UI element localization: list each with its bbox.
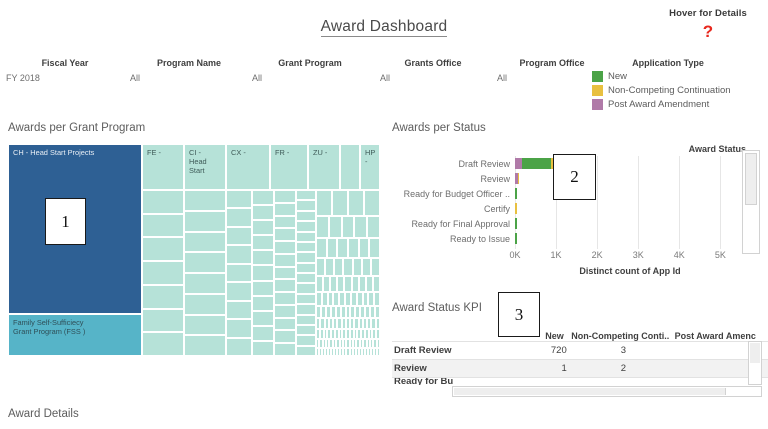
chart-row-label: Certify — [392, 204, 515, 214]
chart-row-label: Draft Review — [392, 159, 515, 169]
filter-label: Grant Program — [240, 58, 380, 68]
treemap-tile-small[interactable] — [274, 330, 296, 343]
treemap-tile-small[interactable] — [348, 190, 364, 216]
treemap-tile-small[interactable] — [316, 258, 325, 276]
kpi-cell-status: Review — [392, 363, 505, 374]
legend-item[interactable]: Non-Competing Continuation — [592, 85, 768, 96]
treemap-tile-small[interactable] — [342, 216, 355, 238]
filter-label: Grants Office — [368, 58, 498, 68]
award-status-kpi-table[interactable]: New Non-Competing Conti.. Post Award Ame… — [392, 325, 768, 397]
treemap-tile-label: ZU - — [309, 145, 339, 157]
treemap-tile-small[interactable] — [142, 285, 184, 309]
treemap-tile-small[interactable] — [184, 294, 226, 315]
treemap-tile-small[interactable] — [296, 221, 316, 231]
callout-marker-1: 1 — [45, 198, 86, 245]
legend-color-swatch — [592, 85, 603, 96]
treemap-tile-small[interactable] — [274, 254, 296, 267]
treemap-tile-small[interactable] — [323, 276, 330, 292]
treemap-tile-small[interactable] — [296, 315, 316, 325]
treemap-tile-small[interactable] — [325, 258, 334, 276]
treemap-tile-small[interactable] — [226, 301, 252, 319]
treemap-tile-small[interactable] — [142, 214, 184, 238]
treemap-tile-small[interactable] — [252, 265, 274, 280]
scrollbar-thumb[interactable] — [750, 343, 760, 363]
treemap-tile-small[interactable] — [316, 238, 327, 258]
treemap-tile-small[interactable] — [226, 338, 252, 356]
treemap-tile-small[interactable] — [274, 216, 296, 229]
chart-row[interactable]: Ready for Final Approval — [392, 216, 768, 231]
treemap-tile-small[interactable] — [142, 261, 184, 285]
treemap-tile-small[interactable] — [374, 292, 380, 306]
kpi-cell-new: 1 — [505, 363, 573, 374]
legend-color-swatch — [592, 99, 603, 110]
treemap-tile-small[interactable] — [375, 306, 380, 318]
treemap-tile-small[interactable] — [252, 205, 274, 220]
treemap-tile-small[interactable] — [274, 292, 296, 305]
kpi-cell-status: Ready for Bu — [392, 377, 512, 385]
chart-bar-segment[interactable] — [518, 173, 520, 184]
treemap-tile-small[interactable] — [142, 237, 184, 261]
treemap-tile-small[interactable] — [142, 332, 184, 356]
chart-row[interactable]: Certify — [392, 201, 768, 216]
legend-item[interactable]: New — [592, 71, 768, 82]
status-chart-caption: Awards per Status — [392, 122, 486, 134]
chart-row-label: Ready for Final Approval — [392, 219, 515, 229]
treemap-tile-small[interactable] — [373, 276, 380, 292]
treemap-tile-small[interactable] — [353, 258, 362, 276]
treemap-tile-small[interactable] — [296, 273, 316, 283]
chart-bar-track — [515, 186, 745, 201]
treemap-tile-small[interactable] — [376, 318, 380, 329]
treemap-tile-small[interactable] — [226, 264, 252, 282]
dashboard-root: Hover for Details ? Award Dashboard Fisc… — [0, 0, 768, 429]
treemap-tile-small[interactable] — [226, 208, 252, 226]
treemap-tile-small[interactable] — [296, 325, 316, 335]
filter-program-name[interactable]: Program Name All — [124, 58, 254, 83]
kpi-cell-new: 720 — [505, 345, 573, 356]
treemap-tile-small[interactable] — [337, 276, 344, 292]
chart-bar-track — [515, 216, 745, 231]
chart-bar-segment[interactable] — [515, 233, 517, 244]
chart-bar[interactable] — [515, 158, 553, 169]
chart-bar-track — [515, 231, 745, 246]
treemap-tile-small[interactable] — [296, 304, 316, 314]
kpi-cell-non-competing: 2 — [573, 363, 674, 374]
legend-item-label: Post Award Amendment — [608, 99, 709, 110]
chart-bar[interactable] — [515, 173, 519, 184]
treemap-tile-small[interactable] — [274, 343, 296, 356]
x-tick-label: 3K — [633, 250, 644, 260]
treemap-tile-small[interactable] — [274, 190, 296, 203]
table-row[interactable]: Draft Review7203 — [392, 341, 768, 359]
legend-item-label: New — [608, 71, 627, 82]
chart-bar[interactable] — [515, 203, 517, 214]
treemap-tile-small[interactable] — [367, 216, 380, 238]
filter-value[interactable]: FY 2018 — [0, 73, 130, 83]
treemap-tile-small[interactable] — [344, 276, 351, 292]
treemap-tile-small[interactable] — [334, 258, 343, 276]
x-axis-label: Distinct count of App Id — [515, 266, 745, 276]
x-axis-ticks: 0K1K2K3K4K5K — [515, 250, 755, 264]
treemap-tile-small[interactable] — [362, 258, 371, 276]
chart-bar-segment[interactable] — [515, 203, 517, 214]
callout-marker-3: 3 — [498, 292, 540, 337]
chart-bar-track — [515, 201, 745, 216]
treemap-tile-small[interactable] — [359, 276, 366, 292]
legend-list: NewNon-Competing ContinuationPost Award … — [592, 71, 768, 110]
table-row-clipped[interactable]: Ready for Bu — [392, 377, 768, 385]
treemap-tile-small[interactable] — [296, 283, 316, 293]
treemap-tile-label: FR - — [271, 145, 307, 157]
kpi-caption: Award Status KPI — [392, 302, 482, 314]
chart-row[interactable]: Ready to Issue — [392, 231, 768, 246]
kpi-col-ncc: Non-Competing Conti.. — [570, 331, 671, 341]
treemap-tile-small[interactable] — [252, 190, 274, 205]
filter-fiscal-year[interactable]: Fiscal Year FY 2018 — [0, 58, 130, 83]
chart-row-label: Review — [392, 174, 515, 184]
treemap-tile-hp[interactable]: HP - — [360, 144, 380, 190]
kpi-table-body: Draft Review7203Review12Ready for Bu — [392, 341, 768, 385]
treemap-tile-small[interactable] — [348, 238, 359, 258]
treemap-tile-small[interactable] — [252, 235, 274, 250]
treemap-tile-small[interactable] — [352, 276, 359, 292]
kpi-horizontal-scrollbar[interactable] — [452, 386, 762, 397]
treemap-tile-small[interactable] — [296, 346, 316, 356]
treemap-tile-small[interactable] — [296, 263, 316, 273]
treemap-tile-small[interactable] — [184, 232, 226, 253]
treemap-tile-small[interactable] — [371, 258, 380, 276]
chart-bar-segment[interactable] — [515, 188, 517, 199]
treemap-tile-small[interactable] — [343, 258, 352, 276]
legend-color-swatch — [592, 71, 603, 82]
treemap-tile-small[interactable] — [274, 203, 296, 216]
treemap-tile-small[interactable] — [316, 276, 323, 292]
legend-item[interactable]: Post Award Amendment — [592, 99, 768, 110]
legend-item-label: Non-Competing Continuation — [608, 85, 731, 96]
chart-bar[interactable] — [515, 188, 517, 199]
filter-grant-program[interactable]: Grant Program All — [240, 58, 380, 83]
treemap-tile-blank[interactable] — [340, 144, 360, 190]
treemap-tile-small[interactable] — [337, 238, 348, 258]
filter-label: Fiscal Year — [0, 58, 130, 68]
kpi-col-paa: Post Award Amenc — [671, 331, 768, 341]
filter-value[interactable]: All — [240, 73, 380, 83]
award-details-caption: Award Details — [8, 408, 79, 420]
treemap-tile-small[interactable] — [296, 252, 316, 262]
treemap-tile-small[interactable] — [376, 329, 380, 339]
treemap-tile-label: Family Self-Sufficiecy Grant Program (FS… — [9, 315, 141, 336]
awards-per-grant-program-treemap[interactable]: CH - Head Start ProjectsFamily Self-Suff… — [8, 144, 380, 356]
treemap-tile-small[interactable] — [377, 339, 380, 348]
chart-row-label: Ready for Budget Officer .. — [392, 189, 515, 199]
treemap-tile-small[interactable] — [226, 319, 252, 337]
filter-grants-office[interactable]: Grants Office All — [368, 58, 498, 83]
treemap-tile-small[interactable] — [296, 190, 316, 200]
treemap-tile-ci-head-start[interactable]: CI - Head Start — [184, 144, 226, 190]
treemap-tile-zu[interactable]: ZU - — [308, 144, 340, 190]
treemap-tile-fe[interactable]: FE - — [142, 144, 184, 190]
treemap-tile-small[interactable] — [296, 232, 316, 242]
treemap-tile-small[interactable] — [296, 211, 316, 221]
table-row[interactable]: Review12 — [392, 359, 768, 377]
chart-bar-segment[interactable] — [522, 158, 552, 169]
treemap-tile-small[interactable] — [142, 190, 184, 214]
treemap-tile-small[interactable] — [296, 294, 316, 304]
treemap-tile-small[interactable] — [296, 335, 316, 345]
x-tick-label: 0K — [509, 250, 520, 260]
treemap-tile-small[interactable] — [184, 252, 226, 273]
treemap-tile-label: CI - Head Start — [185, 145, 225, 175]
treemap-tile-small[interactable] — [377, 348, 380, 356]
award-status-axis-title: Award Status — [580, 144, 746, 154]
treemap-tile-small[interactable] — [226, 190, 252, 208]
treemap-tile-label: CH - Head Start Projects — [9, 145, 141, 157]
scrollbar-thumb[interactable] — [454, 388, 726, 395]
filter-value[interactable]: All — [124, 73, 254, 83]
kpi-cell-non-competing: 3 — [573, 345, 674, 356]
treemap-tile-label: FE - — [143, 145, 183, 157]
kpi-vertical-scrollbar[interactable] — [748, 341, 762, 385]
filter-label: Program Name — [124, 58, 254, 68]
treemap-tile-small[interactable] — [354, 216, 367, 238]
page-title-text: Award Dashboard — [321, 18, 448, 37]
treemap-tile-small[interactable] — [252, 296, 274, 311]
treemap-tile-small[interactable] — [316, 216, 329, 238]
treemap-tile-small[interactable] — [274, 267, 296, 280]
x-tick-label: 1K — [551, 250, 562, 260]
treemap-tile-small[interactable] — [274, 318, 296, 331]
kpi-table-header: New Non-Competing Conti.. Post Award Ame… — [392, 325, 768, 341]
treemap-tile-small[interactable] — [274, 241, 296, 254]
treemap-tile-small[interactable] — [184, 335, 226, 356]
treemap-tile-small[interactable] — [252, 220, 274, 235]
treemap-tile-small[interactable] — [252, 341, 274, 356]
treemap-tile-small[interactable] — [327, 238, 338, 258]
chart-bar-track — [515, 156, 745, 171]
x-tick-label: 2K — [592, 250, 603, 260]
treemap-tile-label: HP - — [361, 145, 379, 166]
legend-title: Application Type — [592, 58, 744, 68]
treemap-tile-small[interactable] — [226, 245, 252, 263]
filter-value[interactable]: All — [368, 73, 498, 83]
treemap-tile-small[interactable] — [369, 238, 380, 258]
treemap-tile-small[interactable] — [296, 242, 316, 252]
treemap-tile-small[interactable] — [274, 279, 296, 292]
treemap-tile-small[interactable] — [184, 211, 226, 232]
treemap-tile-small[interactable] — [274, 305, 296, 318]
treemap-tile-small[interactable] — [252, 250, 274, 265]
treemap-tile-small[interactable] — [252, 281, 274, 296]
callout-marker-2: 2 — [553, 154, 596, 200]
treemap-tile-fr[interactable]: FR - — [270, 144, 308, 190]
treemap-tile-small[interactable] — [364, 190, 380, 216]
treemap-tile-small[interactable] — [252, 311, 274, 326]
x-tick-label: 4K — [674, 250, 685, 260]
status-chart-scrollbar[interactable] — [742, 150, 760, 254]
treemap-tile-small[interactable] — [296, 200, 316, 210]
treemap-tile-small[interactable] — [329, 216, 342, 238]
chart-bar[interactable] — [515, 233, 517, 244]
treemap-tile-small[interactable] — [316, 190, 332, 216]
chart-row-label: Ready to Issue — [392, 234, 515, 244]
treemap-tile-small[interactable] — [184, 190, 226, 211]
chart-bar-segment[interactable] — [515, 218, 517, 229]
application-type-legend: Application Type NewNon-Competing Contin… — [592, 58, 768, 120]
treemap-tile-small[interactable] — [366, 276, 373, 292]
treemap-tile-small[interactable] — [332, 190, 348, 216]
treemap-tile-small[interactable] — [142, 309, 184, 333]
treemap-tile-cx[interactable]: CX - — [226, 144, 270, 190]
treemap-tile-small[interactable] — [252, 326, 274, 341]
treemap-tile-small[interactable] — [226, 227, 252, 245]
kpi-cell-status: Draft Review — [392, 345, 505, 356]
treemap-tile-label: CX - — [227, 145, 269, 157]
x-tick-label: 5K — [715, 250, 726, 260]
treemap-tile-small[interactable] — [226, 282, 252, 300]
treemap-tile-small[interactable] — [274, 228, 296, 241]
treemap-tile-small[interactable] — [184, 273, 226, 294]
scrollbar-thumb[interactable] — [745, 153, 757, 205]
page-title: Award Dashboard — [0, 18, 768, 36]
chart-bar[interactable] — [515, 218, 517, 229]
treemap-tile-fss[interactable]: Family Self-Sufficiecy Grant Program (FS… — [8, 314, 142, 356]
chart-bar-track — [515, 171, 745, 186]
treemap-caption: Awards per Grant Program — [8, 122, 145, 134]
treemap-tile-small[interactable] — [330, 276, 337, 292]
treemap-tile-small[interactable] — [359, 238, 370, 258]
treemap-tile-small[interactable] — [184, 315, 226, 336]
